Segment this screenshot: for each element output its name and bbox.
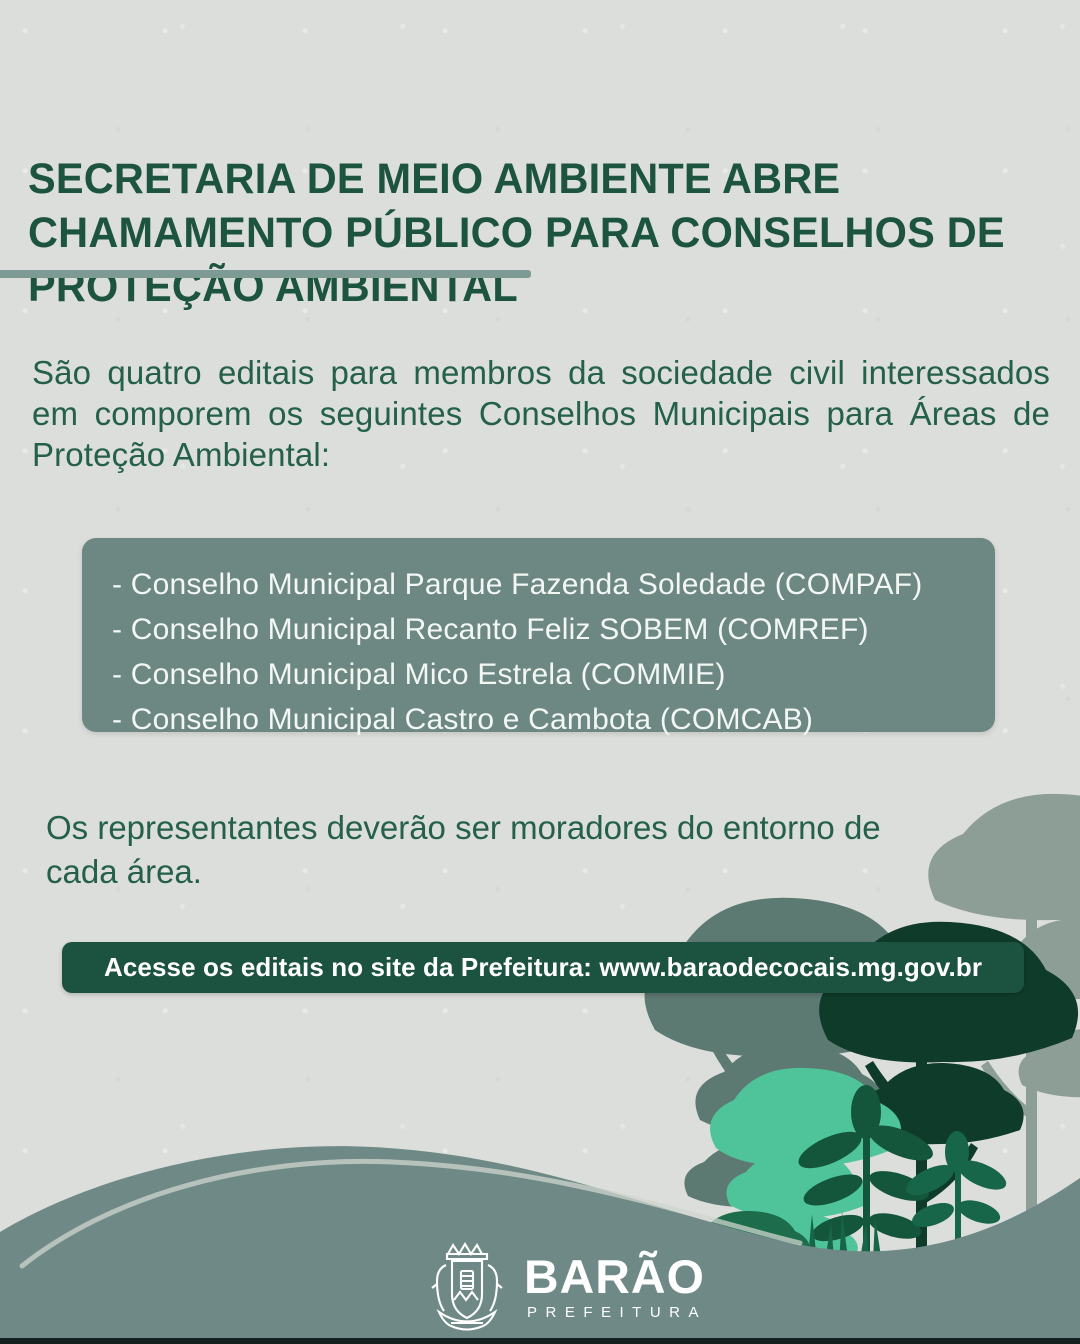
- council-list-box: - Conselho Municipal Parque Fazenda Sole…: [82, 538, 995, 732]
- list-item: - Conselho Municipal Mico Estrela (COMMI…: [112, 652, 965, 697]
- poster-canvas: SECRETARIA DE MEIO AMBIENTE ABRE CHAMAME…: [0, 0, 1080, 1344]
- note-paragraph: Os representantes deverão ser moradores …: [46, 806, 1018, 894]
- cta-label: Acesse os editais no site da Prefeitura:…: [104, 952, 982, 983]
- brand-logo: BARÃO PREFEITURA: [424, 1238, 707, 1334]
- intro-paragraph: São quatro editais para membros da socie…: [32, 352, 1050, 475]
- bottom-edge-bar: [0, 1338, 1080, 1344]
- list-item: - Conselho Municipal Recanto Feliz SOBEM…: [112, 607, 965, 652]
- page-title: SECRETARIA DE MEIO AMBIENTE ABRE CHAMAME…: [28, 152, 1022, 314]
- note-main-text: Os representantes deverão ser moradores …: [46, 809, 881, 846]
- brand-wordmark: BARÃO PREFEITURA: [524, 1253, 707, 1320]
- title-underline-rule: [0, 270, 531, 278]
- note-last-line: cada área.: [46, 850, 1018, 894]
- brand-subtitle: PREFEITURA: [527, 1305, 707, 1320]
- brand-name: BARÃO: [524, 1253, 711, 1300]
- website-cta-bar[interactable]: Acesse os editais no site da Prefeitura:…: [62, 942, 1024, 993]
- coat-of-arms-icon: [424, 1238, 510, 1334]
- list-item: - Conselho Municipal Castro e Cambota (C…: [112, 697, 965, 742]
- list-item: - Conselho Municipal Parque Fazenda Sole…: [112, 562, 965, 607]
